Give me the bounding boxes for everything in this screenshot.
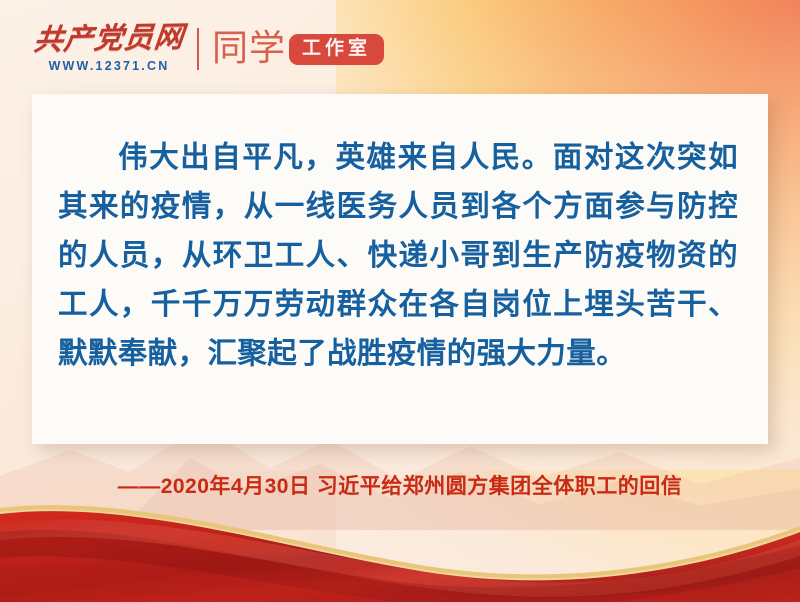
quote-text: 伟大出自平凡，英雄来自人民。面对这次突如其来的疫情，从一线医务人员到各个方面参与… [32, 94, 768, 379]
poster-root: 共产党员网 WWW.12371.CN 同学 工作室 伟大出自平凡，英雄来自人民。… [0, 0, 800, 602]
logo-website-url: WWW.12371.CN [49, 59, 170, 73]
logo-secondary-text: 同学 [212, 31, 286, 67]
quote-body: 伟大出自平凡，英雄来自人民。面对这次突如其来的疫情，从一线医务人员到各个方面参与… [58, 142, 738, 370]
logo-primary-block: 共产党员网 WWW.12371.CN [34, 25, 197, 73]
quote-attribution: ——2020年4月30日 习近平给郑州圆方集团全体职工的回信 [0, 470, 800, 500]
header: 共产党员网 WWW.12371.CN 同学 工作室 [0, 0, 800, 94]
site-logo[interactable]: 共产党员网 WWW.12371.CN 同学 工作室 [34, 25, 384, 73]
logo-studio-badge: 工作室 [289, 34, 384, 65]
logo-calligraphy-text: 共产党员网 [32, 23, 185, 55]
quote-card: 伟大出自平凡，英雄来自人民。面对这次突如其来的疫情，从一线医务人员到各个方面参与… [32, 94, 768, 444]
logo-secondary-block: 同学 工作室 [212, 31, 384, 67]
logo-divider [197, 28, 199, 70]
